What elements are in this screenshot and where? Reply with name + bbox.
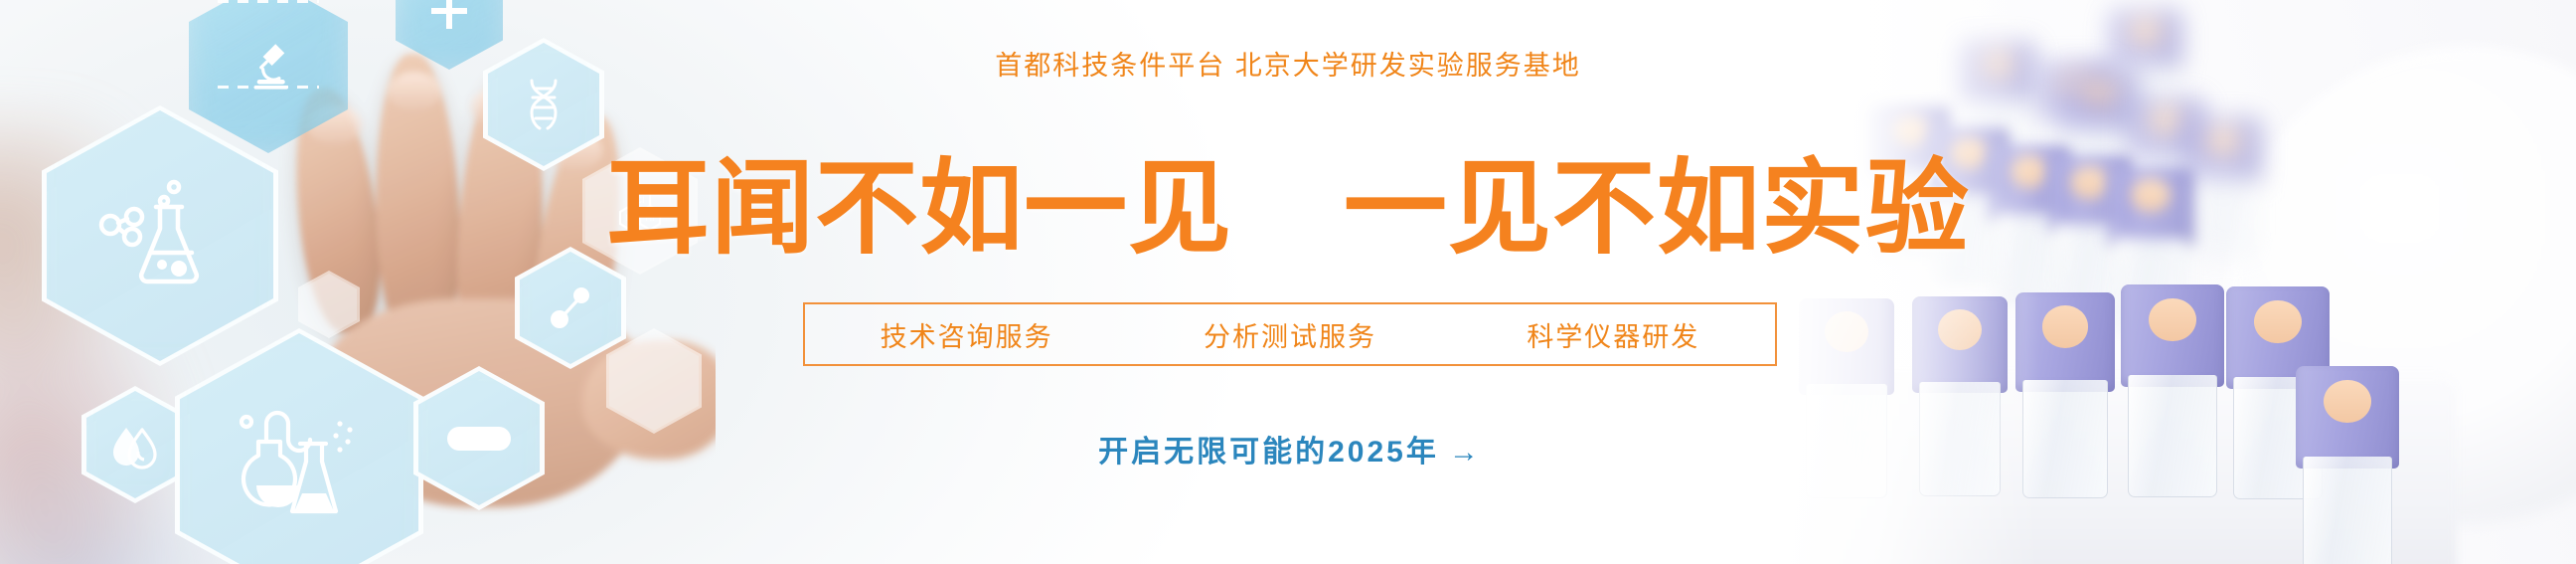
service-link-tech-consulting[interactable]: 技术咨询服务 [867,315,1067,354]
arrow-right-icon: → [1449,436,1482,469]
headline-part-left: 耳闻不如一见 [606,151,1232,267]
banner-headline: 耳闻不如一见 一见不如实验 [0,149,2576,269]
hero-banner: CI HI HI [0,0,2576,564]
cta-label: 开启无限可能的2025年 [1098,436,1439,469]
service-link-instrument-rnd[interactable]: 科学仪器研发 [1513,315,1713,354]
service-link-analysis-testing[interactable]: 分析测试服务 [1190,315,1390,354]
cta-link[interactable]: 开启无限可能的2025年→ [803,427,1777,470]
headline-part-right: 一见不如实验 [1344,151,1970,267]
banner-content: 首都科技条件平台 北京大学研发实验服务基地 耳闻不如一见 一见不如实验 技术咨询… [0,0,2576,564]
banner-subtitle: 首都科技条件平台 北京大学研发实验服务基地 [0,44,2576,83]
service-links-box: 技术咨询服务 分析测试服务 科学仪器研发 [803,302,1777,366]
